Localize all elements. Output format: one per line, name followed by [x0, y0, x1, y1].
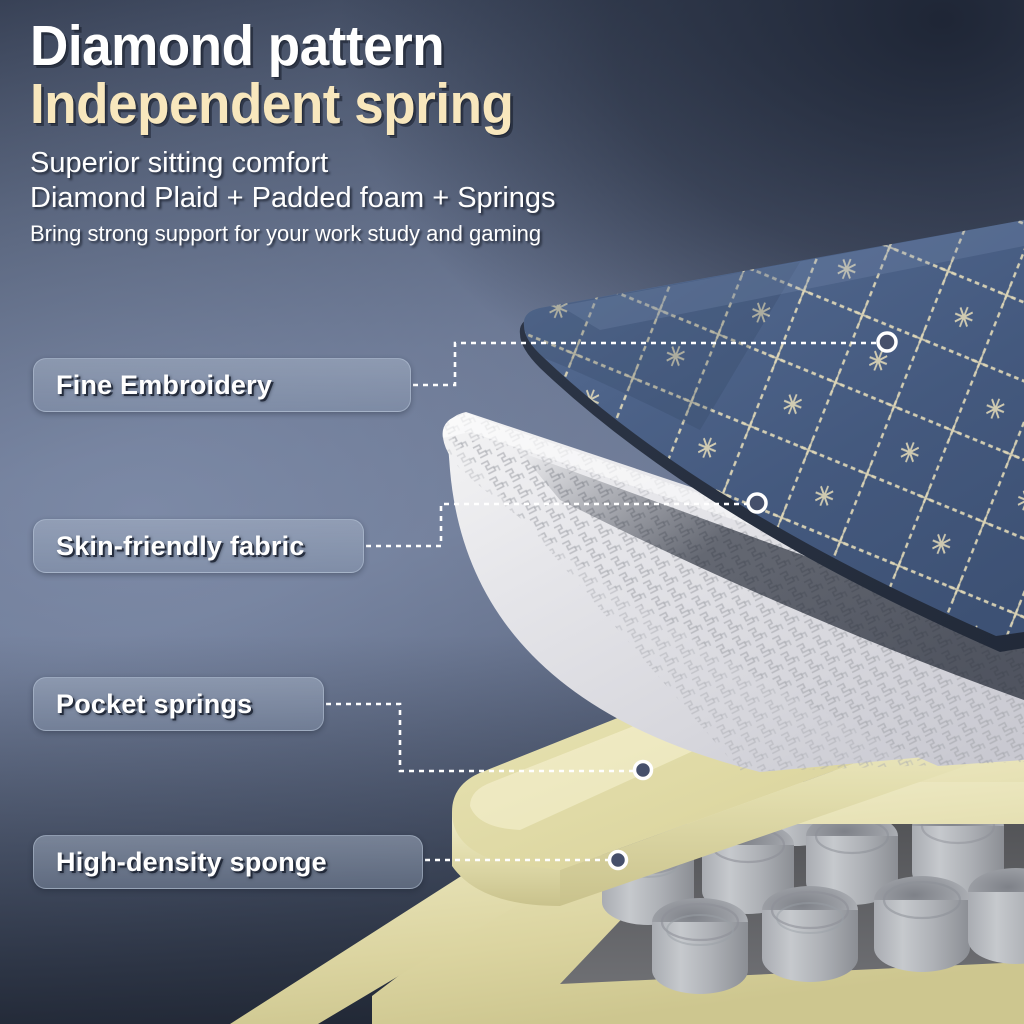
subheading-line-3: Bring strong support for your work study…	[30, 220, 556, 247]
headline-line-2: Independent spring	[30, 76, 519, 132]
callout-label-text: Fine Embroidery	[56, 370, 272, 401]
callout-label-skin-friendly-fabric: Skin-friendly fabric	[33, 519, 364, 573]
callout-label-fine-embroidery: Fine Embroidery	[33, 358, 411, 412]
callout-label-text: Pocket springs	[56, 689, 252, 720]
subheading-line-2: Diamond Plaid + Padded foam + Springs	[30, 181, 556, 216]
subheading-line-1: Superior sitting comfort	[30, 146, 556, 181]
callout-label-pocket-springs: Pocket springs	[33, 677, 324, 731]
callout-label-high-density-sponge: High-density sponge	[33, 835, 423, 889]
headline-block: Diamond pattern Independent spring Super…	[30, 18, 556, 247]
product-infographic: Diamond pattern Independent spring Super…	[0, 0, 1024, 1024]
headline-line-1: Diamond pattern	[30, 18, 519, 74]
callout-label-text: High-density sponge	[56, 847, 327, 878]
callout-label-text: Skin-friendly fabric	[56, 531, 305, 562]
